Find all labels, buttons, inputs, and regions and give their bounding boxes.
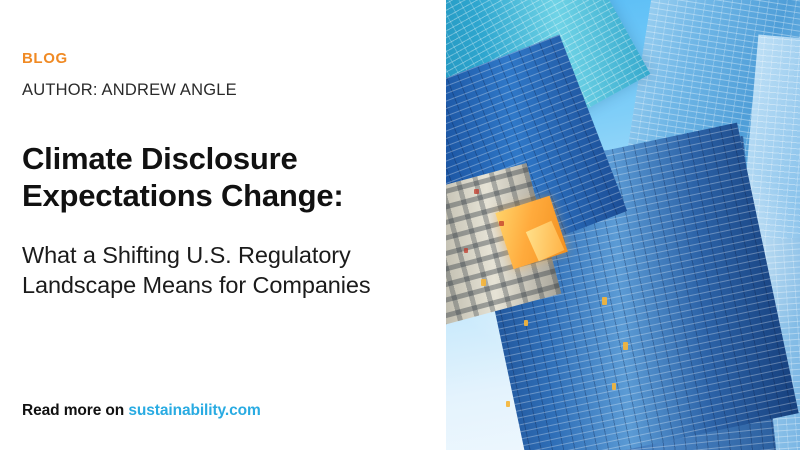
text-panel: BLOG AUTHOR: ANDREW ANGLE Climate Disclo…: [0, 0, 446, 450]
read-more-cta[interactable]: Read more on sustainability.com: [22, 403, 261, 419]
window-light: [481, 279, 486, 286]
window-light-red: [474, 189, 479, 194]
window-light-red: [464, 248, 468, 253]
window-light: [612, 383, 616, 390]
page-subtitle: What a Shifting U.S. Regulatory Landscap…: [22, 241, 442, 300]
blog-promo-card: BLOG AUTHOR: ANDREW ANGLE Climate Disclo…: [0, 0, 800, 450]
headline-line-1: Climate Disclosure: [22, 141, 434, 178]
category-kicker: BLOG: [22, 51, 68, 66]
window-light: [506, 401, 510, 407]
page-title: Climate Disclosure Expectations Change:: [22, 141, 434, 214]
headline-line-2: Expectations Change:: [22, 178, 434, 215]
author-line: AUTHOR: ANDREW ANGLE: [22, 82, 237, 99]
subtitle-line-1: What a Shifting U.S. Regulatory: [22, 241, 442, 271]
window-light-red: [499, 221, 504, 226]
cta-link[interactable]: sustainability.com: [128, 402, 260, 419]
hero-photo: The SustainAbility Institute by: [446, 0, 800, 450]
cta-prefix-label: Read more on: [22, 402, 128, 419]
subtitle-line-2: Landscape Means for Companies: [22, 271, 442, 301]
window-light: [623, 342, 628, 350]
window-light: [524, 320, 528, 326]
window-light: [602, 297, 607, 305]
